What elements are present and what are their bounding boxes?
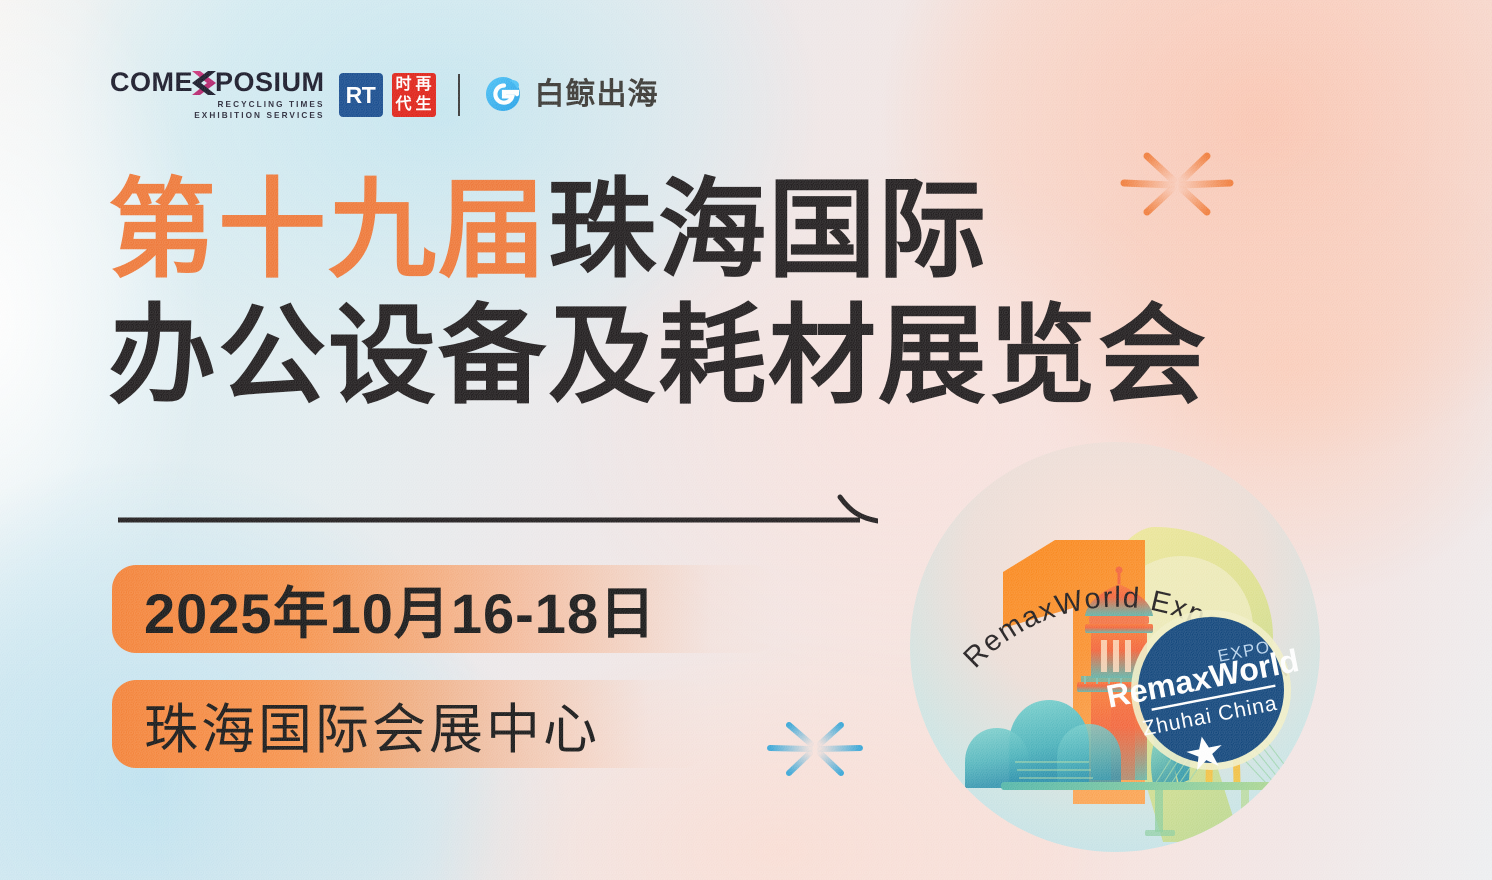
comexposium-word-after-x: POSIUM (215, 69, 325, 96)
seal-char-1: 时 (396, 77, 412, 93)
rt-logo-label: RT (346, 82, 376, 109)
comexposium-word-before-x: COME (110, 69, 193, 96)
event-venue-badge: 珠海国际会展中心 (112, 680, 708, 768)
logo-divider (458, 74, 460, 116)
baijing-logo[interactable]: 白鲸出海 (482, 74, 659, 116)
sponsor-logo-bar: COME POSIUM RE (110, 72, 659, 118)
comexposium-subtitle: RECYCLING TIMES EXHIBITION SERVICES (194, 99, 324, 121)
whale-g-icon (482, 74, 524, 116)
event-date-badge: 2025年10月16-18日 (112, 565, 778, 653)
title-edition: 第十九届 (108, 168, 548, 293)
recycling-times-seal[interactable]: 时 再 代 生 (392, 73, 436, 117)
title-city: 珠海国际 (548, 168, 988, 293)
title-line-1: 第十九届珠海国际 (108, 168, 1288, 294)
seal-char-2: 再 (416, 77, 432, 93)
comexposium-subtitle-line1: RECYCLING TIMES (194, 99, 324, 110)
event-date-text: 2025年10月16-18日 (144, 569, 656, 650)
event-banner: COME POSIUM RE (0, 0, 1492, 880)
rt-logo[interactable]: RT (339, 73, 383, 117)
comexposium-subtitle-line2: EXHIBITION SERVICES (194, 110, 324, 121)
seal-char-3: 代 (396, 97, 412, 113)
divider-rule-with-hook (118, 487, 878, 533)
page-title: 第十九届珠海国际 办公设备及耗材展览会 (108, 168, 1288, 421)
event-venue-text: 珠海国际会展中心 (144, 685, 600, 764)
sparkle-icon (1112, 128, 1272, 268)
baijing-label: 白鲸出海 (535, 80, 659, 110)
comexposium-logo[interactable]: COME POSIUM RE (110, 72, 325, 118)
x-chevron-icon (191, 69, 217, 97)
comexposium-wordmark: COME POSIUM (110, 69, 325, 97)
sparkle-icon (752, 690, 892, 820)
remaxworld-expo-emblem[interactable]: RemaxWorld Expo 2025 EXPO RemaxWorld Zhu… (905, 432, 1375, 862)
seal-char-4: 生 (416, 97, 432, 113)
title-line-2: 办公设备及耗材展览会 (108, 294, 1288, 420)
